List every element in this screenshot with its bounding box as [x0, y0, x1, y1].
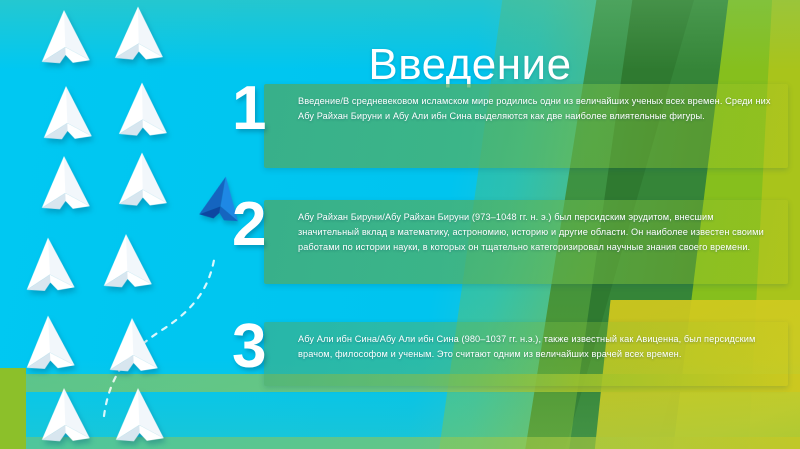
block-number-3: 3 — [232, 318, 284, 377]
block-number-2: 2 — [232, 196, 284, 255]
content-block-2: 2 Абу Райхан Бируни/Абу Райхан Бируни (9… — [232, 200, 788, 284]
block-text-1: Введение/В средневековом исламском мире … — [298, 94, 774, 124]
block-text-2: Абу Райхан Бируни/Абу Райхан Бируни (973… — [298, 210, 774, 255]
block-panel-2: Абу Райхан Бируни/Абу Райхан Бируни (973… — [264, 200, 788, 284]
background-edge-left-green — [0, 368, 26, 449]
content-block-1: 1 Введение/В средневековом исламском мир… — [232, 84, 788, 168]
slide-canvas: Введение 1 Введение/В средневековом исла… — [0, 0, 800, 449]
block-number-1: 1 — [232, 80, 284, 139]
block-text-3: Абу Али ибн Сина/Абу Али ибн Сина (980–1… — [298, 332, 774, 362]
block-panel-3: Абу Али ибн Сина/Абу Али ибн Сина (980–1… — [264, 322, 788, 386]
block-panel-1: Введение/В средневековом исламском мире … — [264, 84, 788, 168]
content-block-3: 3 Абу Али ибн Сина/Абу Али ибн Сина (980… — [232, 322, 788, 386]
